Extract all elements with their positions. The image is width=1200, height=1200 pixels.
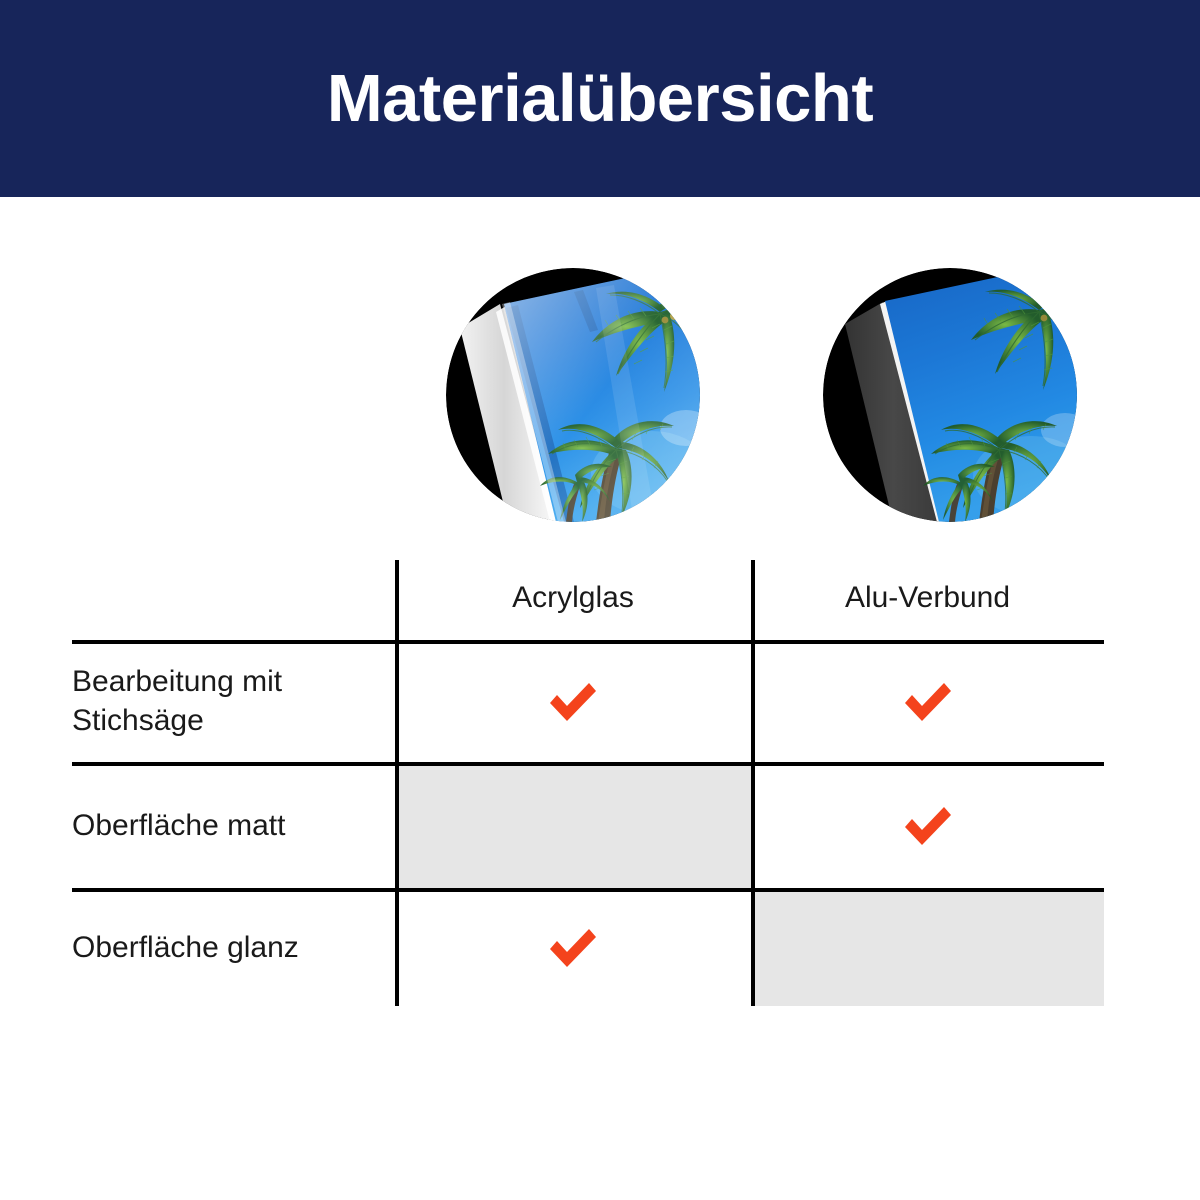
material-overview-page: Materialübersicht: [0, 0, 1200, 1200]
acrylglas-thumbnail-image: [446, 268, 700, 522]
cell-matt-acrylglas-unavailable: [395, 762, 751, 888]
row-label-bearbeitung-stichsaege: Bearbeitung mit Stichsäge: [72, 640, 395, 762]
check-icon: [545, 924, 601, 970]
cell-bearbeitung-acrylglas: [395, 640, 751, 762]
check-icon: [900, 678, 956, 724]
cell-glanz-acrylglas: [395, 888, 751, 1006]
row-label-line-2: Stichsäge: [72, 704, 204, 737]
table-row: Oberfläche glanz: [72, 888, 1104, 1006]
check-icon: [545, 678, 601, 724]
header-cell-empty: [72, 556, 395, 640]
thumbnail-row: [0, 268, 1200, 524]
row-label-line-1: Oberfläche glanz: [72, 931, 299, 964]
alu-verbund-thumbnail-image: [823, 268, 1077, 522]
table-row: Oberfläche matt: [72, 762, 1104, 888]
acrylglas-thumbnail[interactable]: [446, 268, 700, 522]
table-row: Bearbeitung mit Stichsäge: [72, 640, 1104, 762]
row-label-oberflaeche-glanz: Oberfläche glanz: [72, 888, 395, 1006]
page-title: Materialübersicht: [0, 0, 1200, 197]
table-header-row: Acrylglas Alu-Verbund: [72, 556, 1104, 640]
cell-bearbeitung-alu-verbund: [751, 640, 1104, 762]
column-header-alu-verbund: Alu-Verbund: [751, 556, 1104, 640]
header-banner: Materialübersicht: [0, 0, 1200, 197]
comparison-grid: Acrylglas Alu-Verbund Bearbeitung mit St…: [72, 556, 1104, 1006]
row-label-line-1: Oberfläche matt: [72, 809, 285, 842]
row-label-oberflaeche-matt: Oberfläche matt: [72, 762, 395, 888]
row-label-line-1: Bearbeitung mit: [72, 665, 282, 698]
column-header-acrylglas: Acrylglas: [395, 556, 751, 640]
cell-matt-alu-verbund: [751, 762, 1104, 888]
cell-glanz-alu-verbund-unavailable: [751, 888, 1104, 1006]
material-comparison-table: Acrylglas Alu-Verbund Bearbeitung mit St…: [72, 556, 1104, 1006]
alu-verbund-thumbnail[interactable]: [823, 268, 1077, 522]
check-icon: [900, 802, 956, 848]
